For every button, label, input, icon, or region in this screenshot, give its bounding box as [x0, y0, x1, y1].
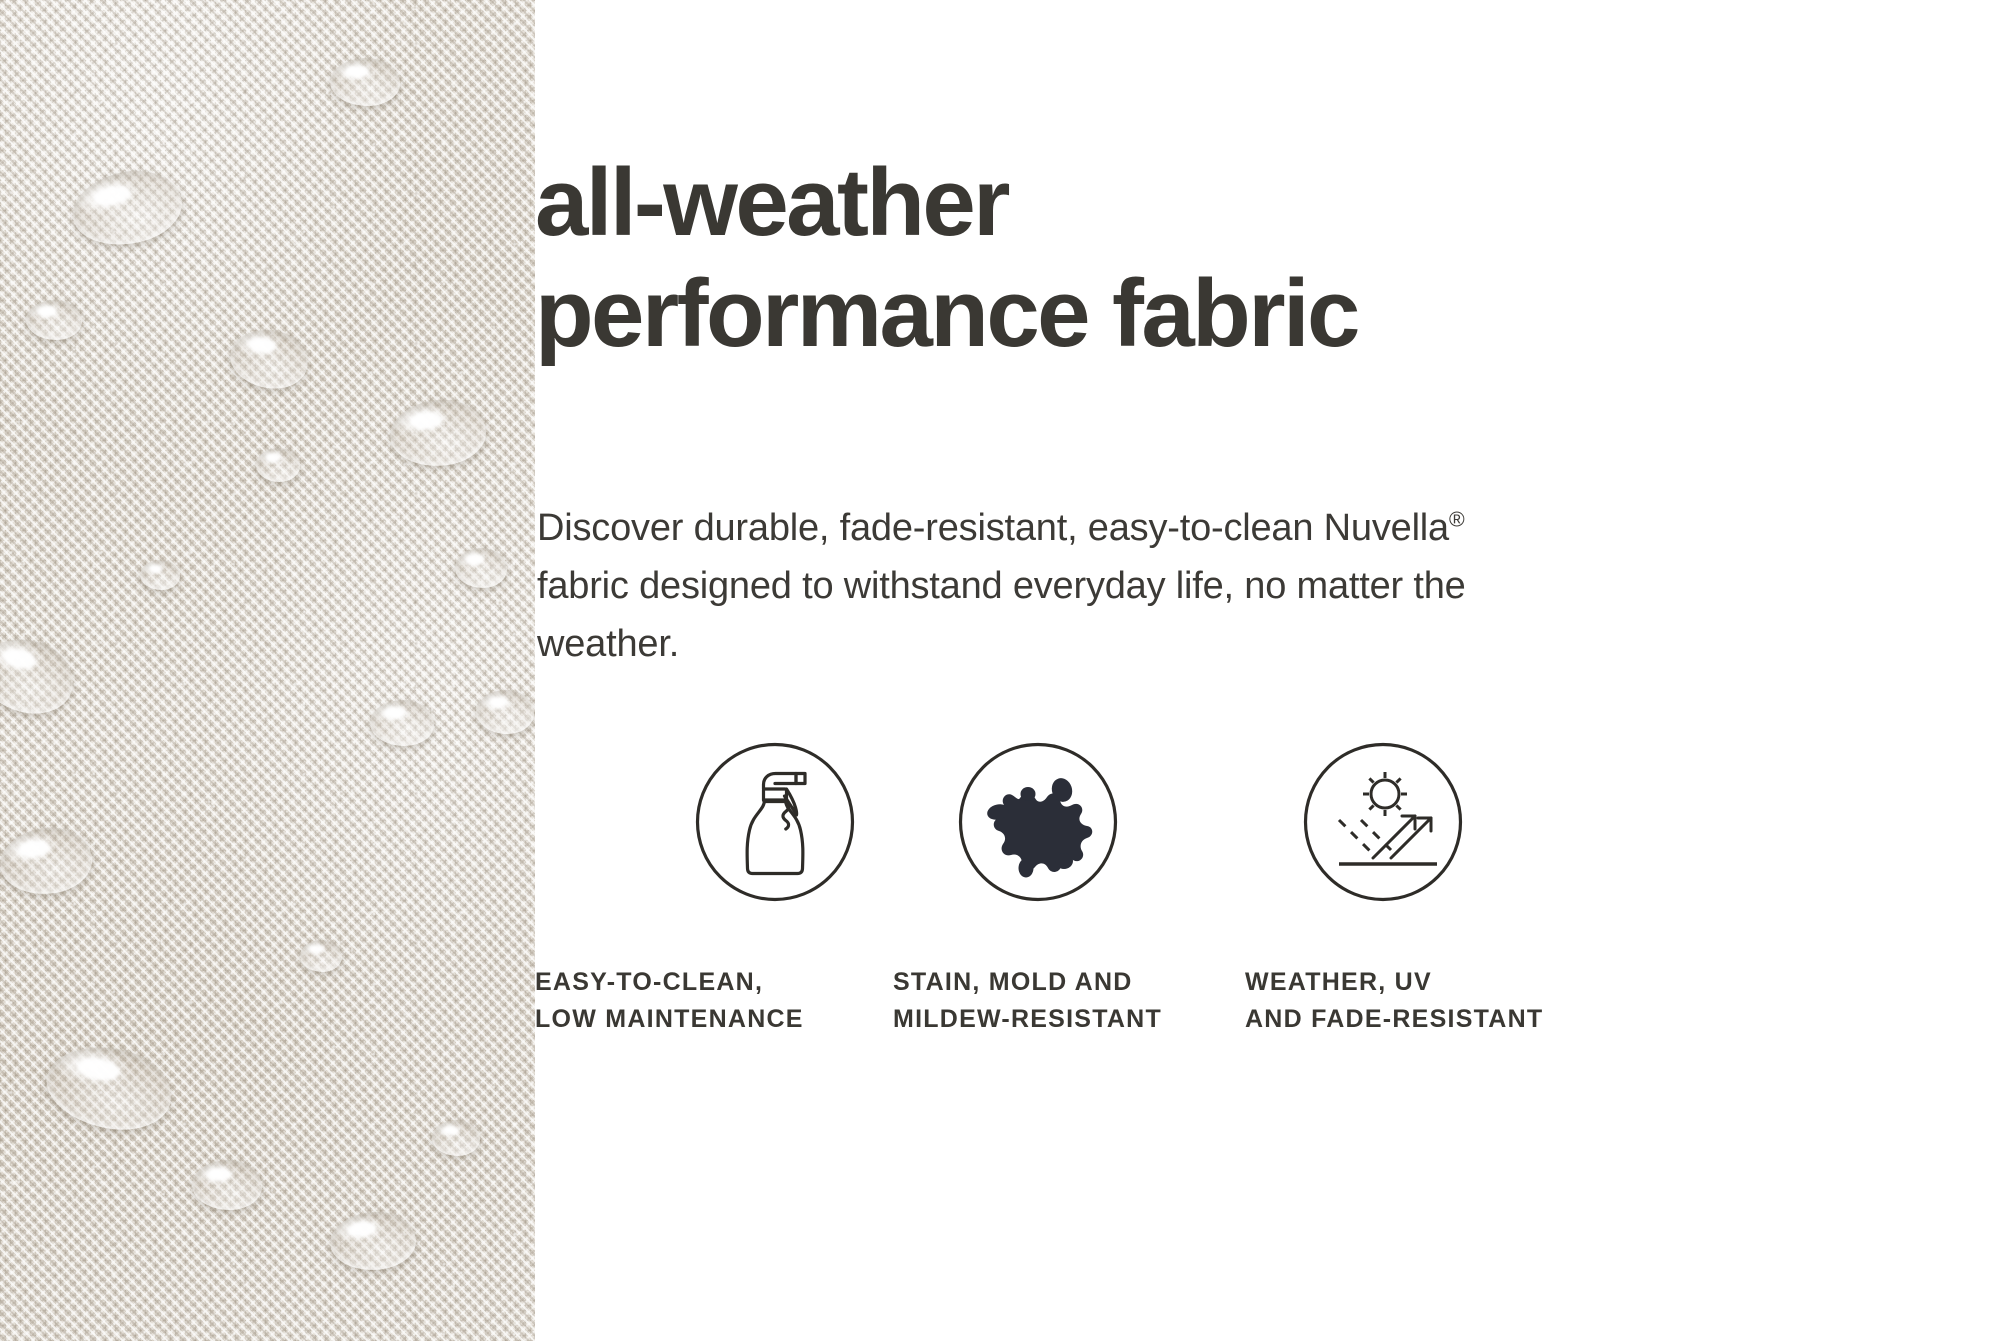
water-droplet [455, 548, 507, 588]
content-panel: all-weather performance fabric Discover … [535, 0, 2010, 1341]
body-copy-part2: fabric designed to withstand everyday li… [537, 565, 1466, 665]
feature-item-easy-to-clean: EASY-TO-CLEAN, LOW MAINTENANCE [535, 742, 893, 1038]
feature-item-stain-resistant: STAIN, MOLD AND MILDEW-RESISTANT [893, 742, 1245, 1038]
water-droplet [432, 1120, 480, 1156]
sun-uv-reflect-icon [1303, 742, 1463, 902]
fabric-photo [0, 0, 535, 1341]
all-weather-fabric-banner: all-weather performance fabric Discover … [0, 0, 2010, 1341]
page-title: all-weather performance fabric [535, 148, 1358, 370]
water-droplet [192, 1160, 262, 1210]
registered-trademark-mark: ® [1449, 507, 1465, 531]
water-droplet [256, 448, 300, 482]
water-droplet [300, 940, 342, 972]
water-droplet [140, 560, 180, 590]
water-droplet [330, 58, 400, 106]
spray-bottle-icon [695, 742, 855, 902]
feature-list: EASY-TO-CLEAN, LOW MAINTENANCE [535, 742, 1955, 1038]
body-copy-part1: Discover durable, fade-resistant, easy-t… [537, 507, 1449, 549]
water-droplet [26, 300, 82, 340]
water-droplet [370, 700, 434, 746]
feature-caption: STAIN, MOLD AND MILDEW-RESISTANT [893, 964, 1162, 1038]
body-copy: Discover durable, fade-resistant, easy-t… [537, 500, 1497, 673]
feature-caption: WEATHER, UV AND FADE-RESISTANT [1245, 964, 1543, 1038]
water-droplet [476, 690, 534, 734]
feature-caption: EASY-TO-CLEAN, LOW MAINTENANCE [535, 964, 804, 1038]
feature-item-uv-fade-resistant: WEATHER, UV AND FADE-RESISTANT [1245, 742, 1605, 1038]
stain-splatter-icon [958, 742, 1118, 902]
